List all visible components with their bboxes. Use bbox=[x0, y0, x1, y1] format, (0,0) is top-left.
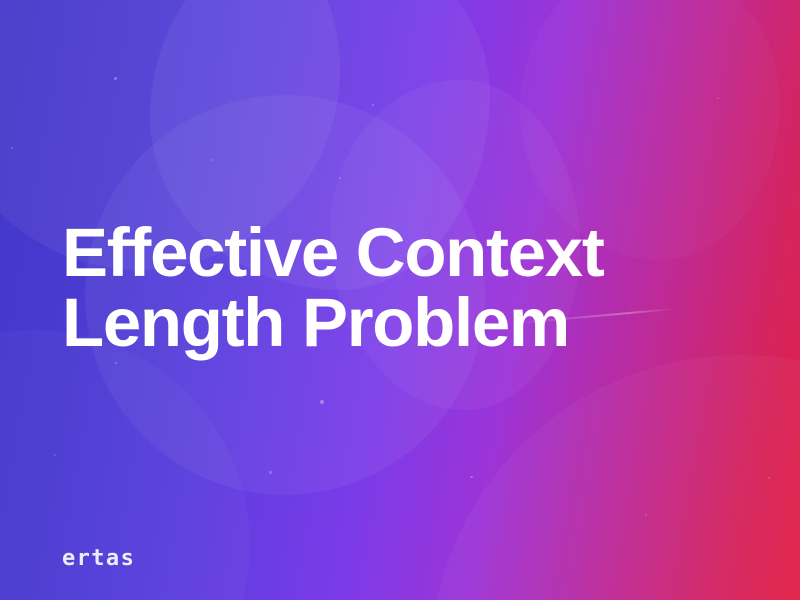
particle-dot bbox=[645, 514, 647, 516]
particle-dot bbox=[717, 97, 719, 99]
title-slide: Effective Context Length Problem ertas bbox=[0, 0, 800, 600]
particle-dot bbox=[339, 177, 341, 179]
particle-dot bbox=[768, 477, 771, 480]
particle-dot bbox=[320, 400, 324, 404]
particle-dot bbox=[269, 471, 272, 474]
decorative-blob-bottom-right bbox=[430, 355, 800, 600]
particle-dot bbox=[54, 454, 56, 456]
particle-dot bbox=[115, 362, 118, 365]
particle-dot bbox=[114, 77, 117, 80]
particle-dot bbox=[471, 476, 474, 479]
particle-dot bbox=[372, 104, 375, 107]
page-title-line-2: Length Problem bbox=[62, 288, 682, 358]
particle-dot bbox=[11, 147, 13, 149]
footer-wordmark: ertas bbox=[62, 544, 135, 574]
page-title-line-1: Effective Context bbox=[62, 218, 682, 288]
particle-dot bbox=[470, 476, 472, 478]
page-title: Effective Context Length Problem bbox=[62, 218, 682, 358]
particle-dot bbox=[211, 159, 213, 161]
